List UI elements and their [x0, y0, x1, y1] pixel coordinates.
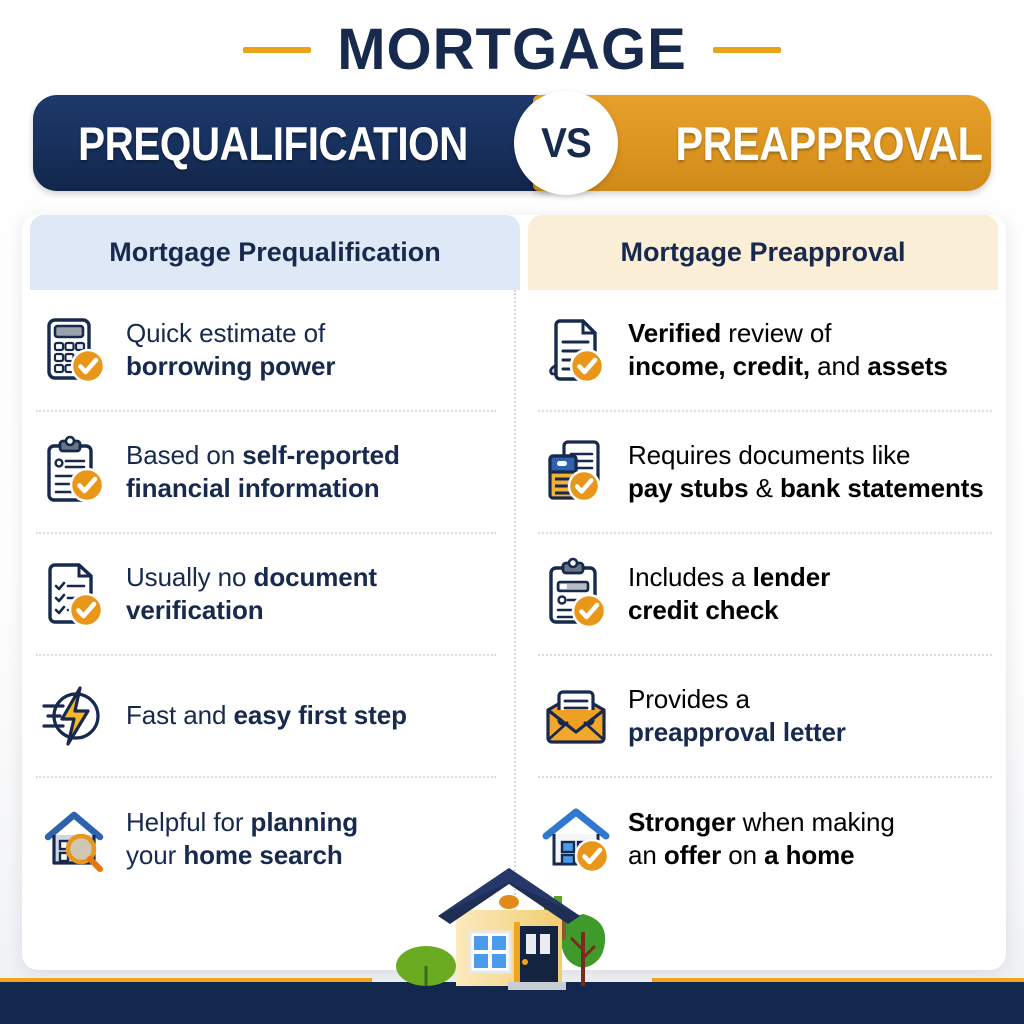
- list-item-text: Stronger when making an offer on a home: [628, 806, 895, 873]
- list-item-text: Provides a preapproval letter: [628, 683, 846, 750]
- calculator-check-icon: [36, 312, 112, 388]
- house-with-trees-illustration: [368, 862, 658, 990]
- comparison-card: Mortgage Prequalification Mortgage Preap…: [22, 215, 1006, 970]
- versus-banner: PREQUALIFICATION PREAPPROVAL VS: [33, 95, 991, 191]
- envelope-letter-icon: [538, 678, 614, 754]
- clipboard-credit-check-icon: [538, 556, 614, 632]
- list-item: Based on self-reported financial informa…: [36, 412, 496, 534]
- banner-left-label: PREQUALIFICATION: [67, 95, 480, 191]
- list-item-text: Fast and easy first step: [126, 699, 407, 732]
- document-check-icon: [538, 312, 614, 388]
- title-dash-left-icon: [243, 47, 311, 53]
- list-item: Verified review of income, credit, and a…: [538, 290, 992, 412]
- checklist-check-icon: [36, 556, 112, 632]
- vs-badge: VS: [514, 91, 618, 195]
- column-header-preapproval: Mortgage Preapproval: [528, 215, 998, 290]
- page-title: MORTGAGE: [337, 21, 687, 79]
- vs-label: VS: [541, 119, 591, 167]
- column-header-prequalification: Mortgage Prequalification: [30, 215, 520, 290]
- clipboard-check-icon: [36, 434, 112, 510]
- list-item: Requires documents like pay stubs & bank…: [538, 412, 992, 534]
- lightning-speed-icon: [36, 678, 112, 754]
- house-search-icon: [36, 801, 112, 877]
- infographic-canvas: MORTGAGE PREQUALIFICATION PREAPPROVAL VS…: [0, 0, 1024, 1024]
- list-item-text: Usually no document verification: [126, 561, 377, 628]
- paystub-documents-check-icon: [538, 434, 614, 510]
- list-item-text: Includes a lender credit check: [628, 561, 830, 628]
- title-dash-right-icon: [713, 47, 781, 53]
- page-title-row: MORTGAGE: [0, 10, 1024, 90]
- list-item: Fast and easy first step: [36, 656, 496, 778]
- list-item-text: Requires documents like pay stubs & bank…: [628, 439, 984, 506]
- list-item: Includes a lender credit check: [538, 534, 992, 656]
- column-headers: Mortgage Prequalification Mortgage Preap…: [22, 215, 1006, 290]
- list-item-text: Quick estimate of borrowing power: [126, 317, 335, 384]
- list-item: Usually no document verification: [36, 534, 496, 656]
- list-item-text: Based on self-reported financial informa…: [126, 439, 400, 506]
- list-item-text: Verified review of income, credit, and a…: [628, 317, 948, 384]
- banner-right-label: PREAPPROVAL: [657, 95, 1002, 191]
- list-item: Quick estimate of borrowing power: [36, 290, 496, 412]
- list-item-text: Helpful for planning your home search: [126, 806, 358, 873]
- list-item: Provides a preapproval letter: [538, 656, 992, 778]
